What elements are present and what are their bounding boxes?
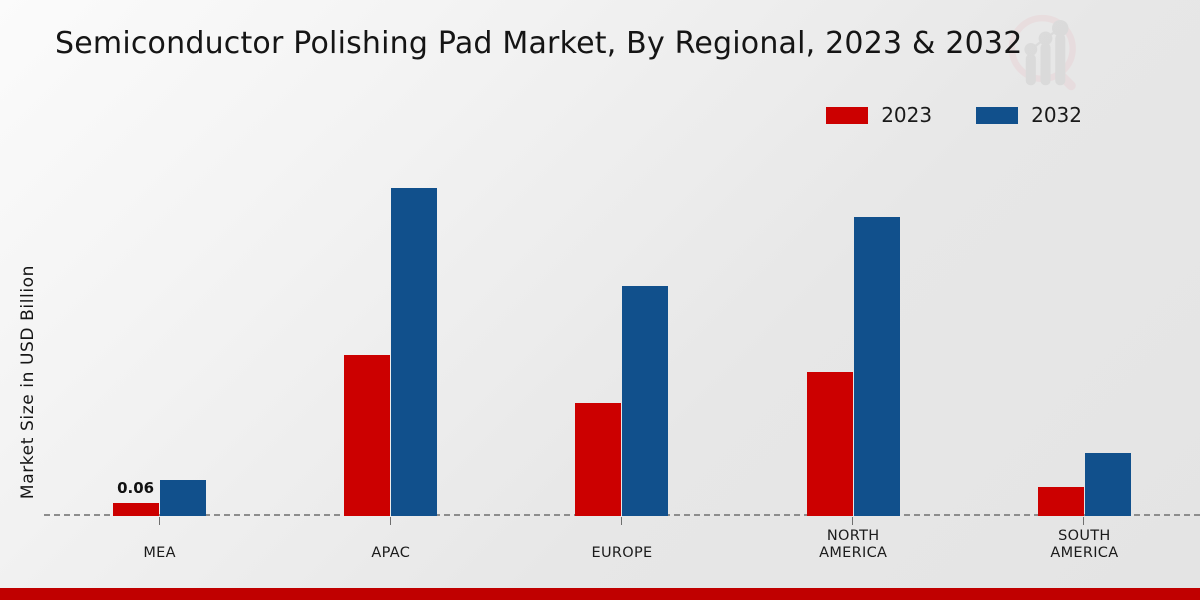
bar-group: 0.06MEA <box>44 150 275 516</box>
bar-2032-apac[interactable] <box>391 188 437 516</box>
bar-2023-europe[interactable] <box>575 403 621 516</box>
bar-2032-europe[interactable] <box>622 286 668 516</box>
bar-2023-north-america[interactable] <box>807 372 853 516</box>
bars <box>738 150 969 516</box>
legend-item-2023[interactable]: 2023 <box>826 103 932 127</box>
chart-title: Semiconductor Polishing Pad Market, By R… <box>55 26 1023 61</box>
legend: 2023 2032 <box>826 103 1082 127</box>
category-label-apac: APAC <box>311 545 471 562</box>
bar-value-label: 0.06 <box>20 479 251 497</box>
plot-area: 0.06MEAAPACEUROPENORTHAMERICASOUTHAMERIC… <box>44 150 1200 516</box>
footer-accent-bar <box>0 588 1200 600</box>
legend-label-2032: 2032 <box>1031 103 1082 127</box>
bars <box>44 150 275 516</box>
category-label-europe: EUROPE <box>542 545 702 562</box>
bars <box>506 150 737 516</box>
bar-2023-mea[interactable] <box>113 503 159 516</box>
axis-tick <box>390 517 391 525</box>
legend-label-2023: 2023 <box>881 103 932 127</box>
bar-2023-south-america[interactable] <box>1038 487 1084 516</box>
bar-group: APAC <box>275 150 506 516</box>
bar-group: SOUTHAMERICA <box>969 150 1200 516</box>
bar-2032-north-america[interactable] <box>854 217 900 516</box>
chart-container: Semiconductor Polishing Pad Market, By R… <box>0 0 1200 600</box>
bars <box>969 150 1200 516</box>
bar-group: NORTHAMERICA <box>738 150 969 516</box>
bar-group: EUROPE <box>506 150 737 516</box>
bar-2023-apac[interactable] <box>344 355 390 516</box>
legend-swatch-icon-2023 <box>826 107 868 124</box>
bars <box>275 150 506 516</box>
bar-2032-south-america[interactable] <box>1085 453 1131 516</box>
category-label-mea: MEA <box>80 545 240 562</box>
legend-swatch-icon-2032 <box>976 107 1018 124</box>
legend-item-2032[interactable]: 2032 <box>976 103 1082 127</box>
axis-tick <box>1083 517 1084 525</box>
y-axis-title: Market Size in USD Billion <box>18 202 38 562</box>
category-label-south-america: SOUTHAMERICA <box>1004 528 1164 562</box>
axis-tick <box>159 517 160 525</box>
category-label-north-america: NORTHAMERICA <box>773 528 933 562</box>
axis-tick <box>621 517 622 525</box>
axis-tick <box>852 517 853 525</box>
